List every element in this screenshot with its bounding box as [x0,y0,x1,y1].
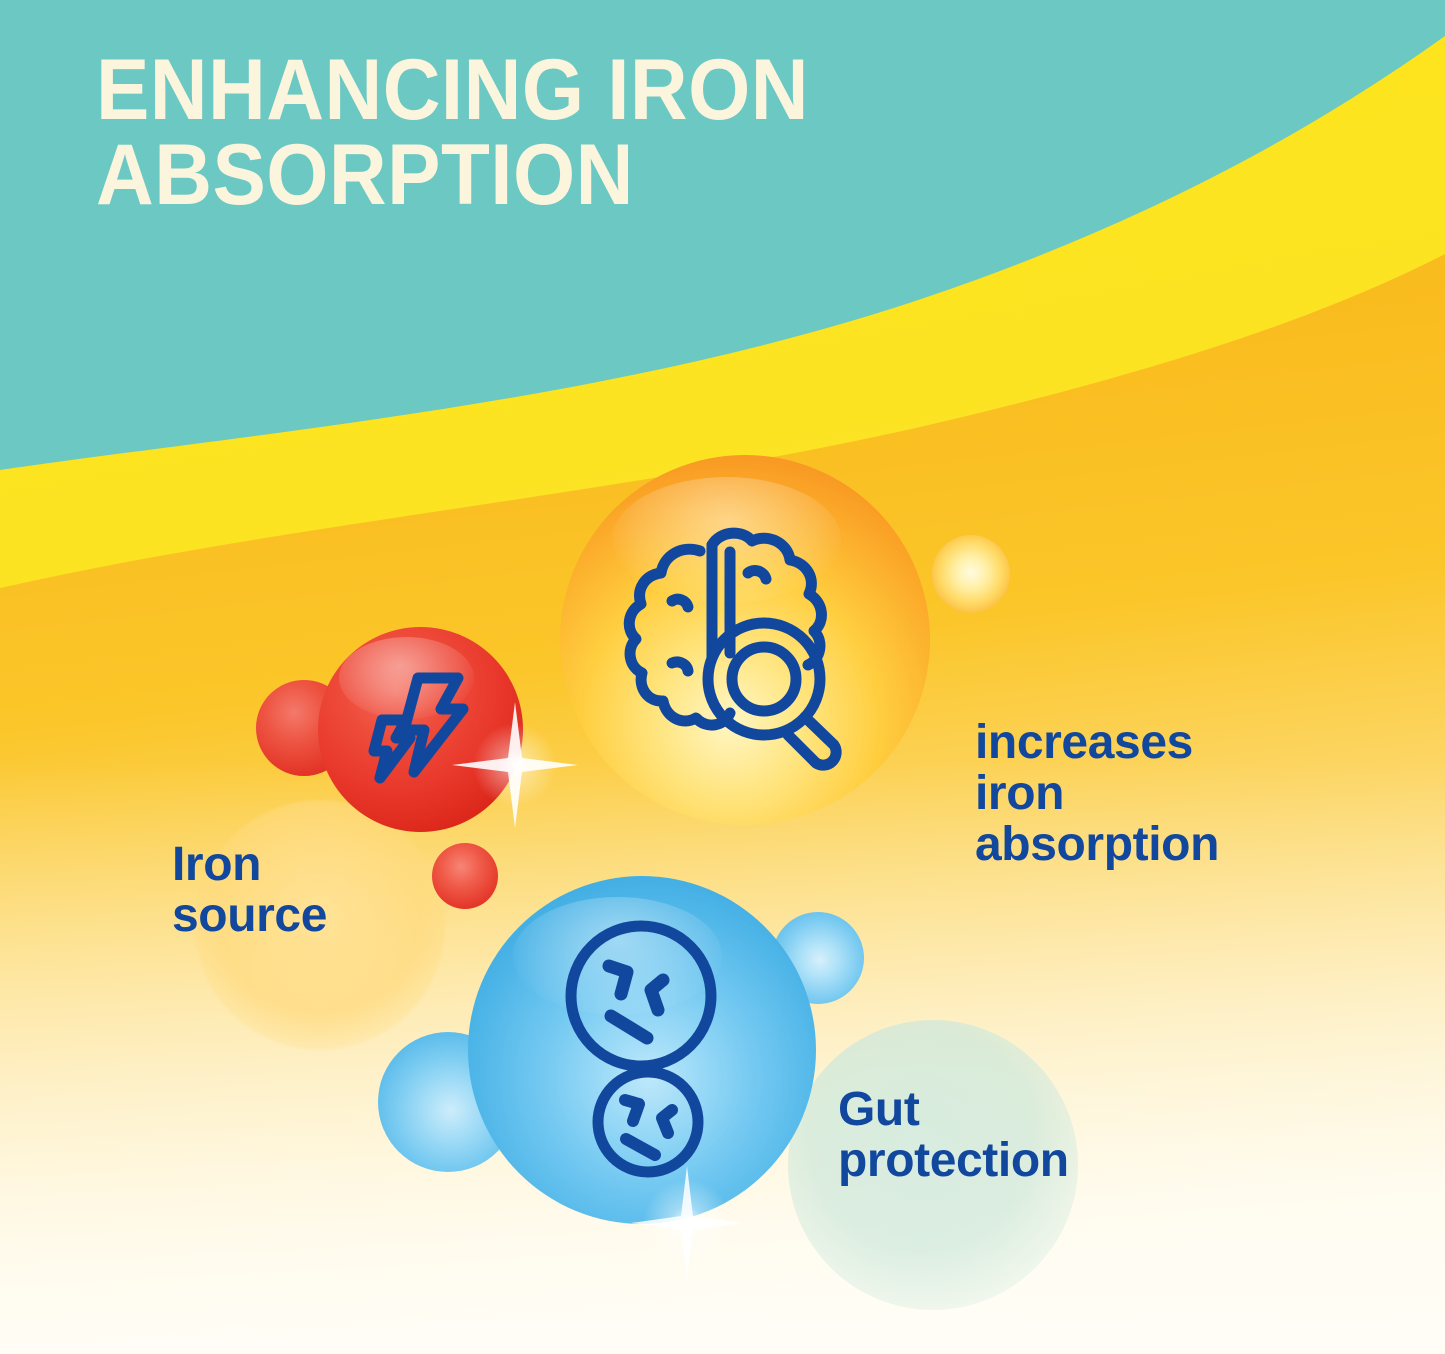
page-title: ENHANCING IRON ABSORPTION [96,48,989,218]
callout-iron-source: Iron source [172,840,422,942]
gut-bacteria-icon [543,918,743,1190]
callout-gut-protection: Gut protection [838,1085,1168,1187]
orange-satellite-bubble [932,535,1010,613]
infographic-poster: ENHANCING IRON ABSORPTION [0,0,1445,1354]
red-satellite-bubble-bottom [432,843,498,909]
callout-increases-iron-absorption: increases iron absorption [975,718,1305,871]
brain-magnifier-icon [612,505,878,771]
lightning-bolts-icon [362,672,480,790]
